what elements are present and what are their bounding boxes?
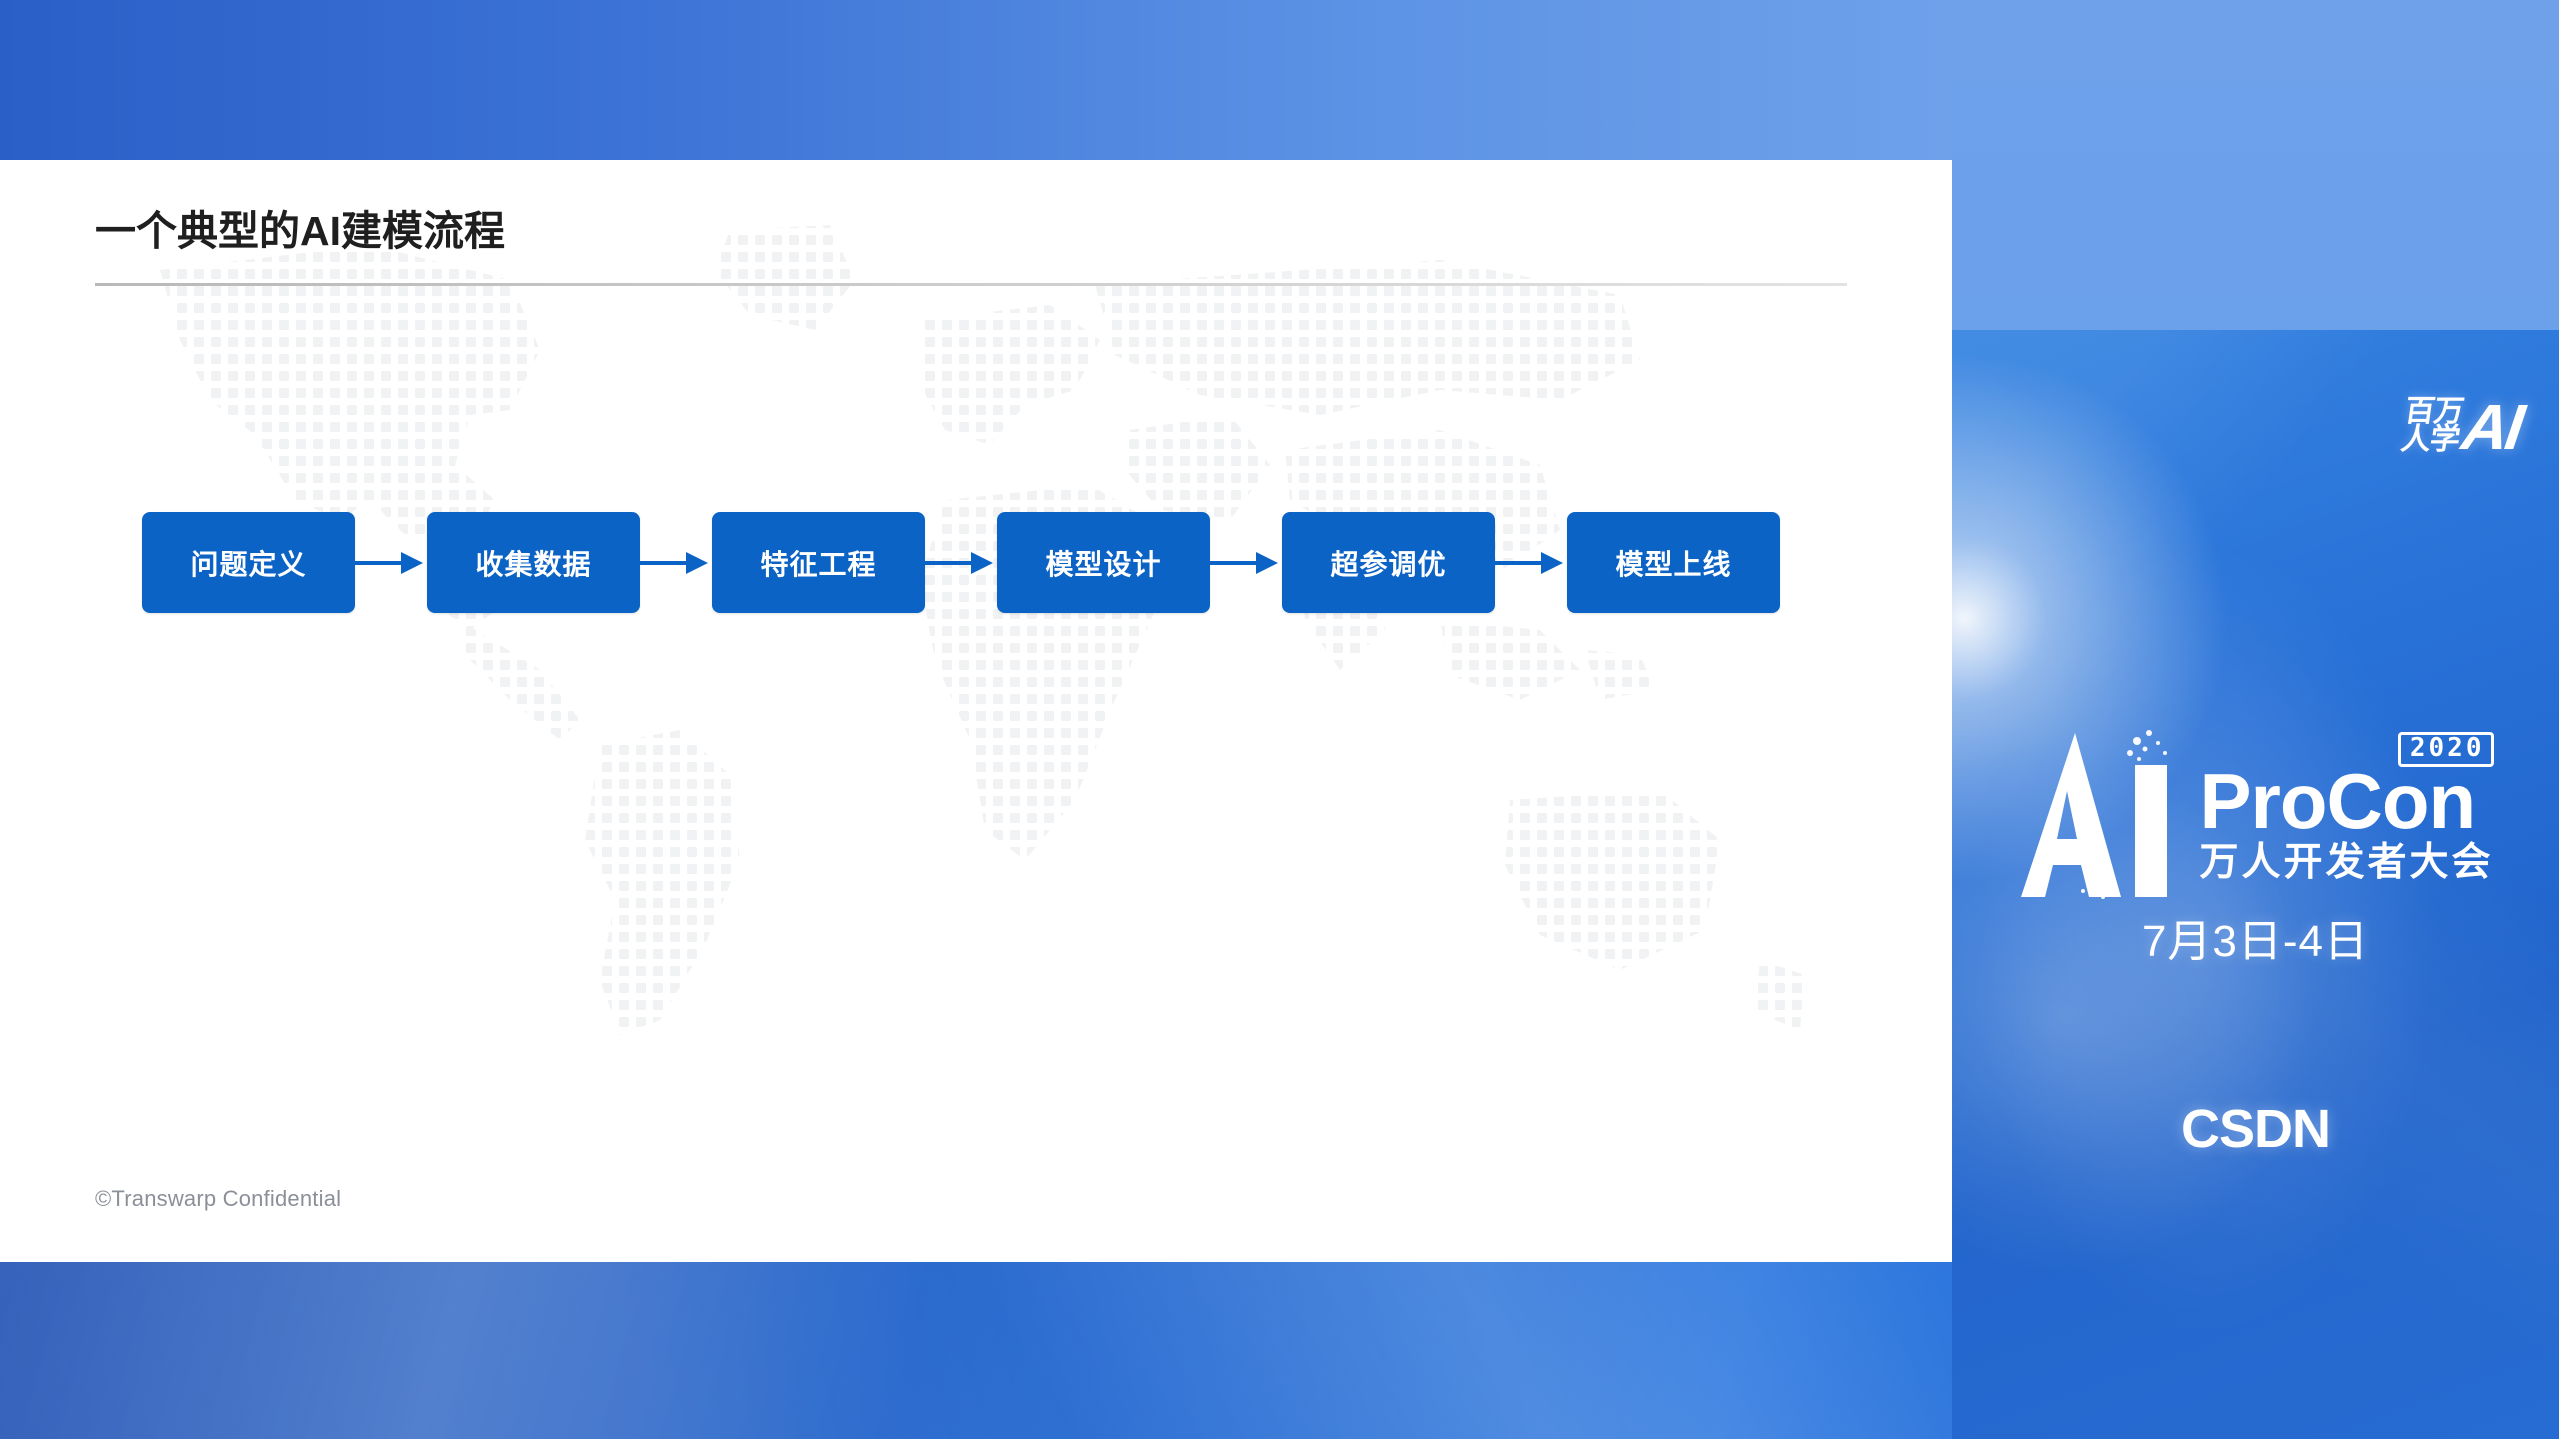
slide-stage: 一个典型的AI建模流程 TRANSWARP 星环科技 问题定义 收集数据 特征工… (0, 0, 2559, 1439)
rail-top-band (1952, 0, 2559, 330)
flow-arrow-icon (640, 552, 712, 574)
flow-step-box[interactable]: 模型设计 (997, 512, 1210, 613)
flow-arrow-icon (1495, 552, 1567, 574)
conference-date: 7月3日-4日 (1952, 905, 2559, 969)
slide-canvas (0, 160, 1952, 1262)
baiwanrenxueai-logo: 百万 人学 AI (2399, 398, 2525, 453)
baiwanrenxueai-chinese: 百万 人学 (2399, 398, 2465, 453)
procon-subtitle: 万人开发者大会 (2199, 843, 2493, 882)
csdn-logo: CSDN (1952, 1098, 2559, 1160)
flow-arrow-icon (1210, 552, 1282, 574)
baiwanrenxueai-ai-text: AI (2459, 401, 2524, 453)
flow-step-box[interactable]: 收集数据 (427, 512, 640, 613)
flow-step-box[interactable]: 超参调优 (1282, 512, 1495, 613)
top-gradient-band (0, 0, 1952, 160)
procon-title: ProCon (2199, 766, 2493, 838)
title-divider (95, 283, 1847, 286)
ai-procon-mark-icon (2017, 725, 2185, 905)
conference-rail: 百万 人学 AI (1952, 0, 2559, 1439)
procon-year-badge: 2020 (2398, 732, 2494, 767)
world-map-watermark (40, 200, 1870, 1120)
flow-arrow-icon (355, 552, 427, 574)
baiwanrenxueai-line-1: 百万 (2403, 398, 2465, 426)
page-title: 一个典型的AI建模流程 (95, 197, 505, 257)
flow-arrow-icon (925, 552, 997, 574)
ai-procon-text-block: 2020 ProCon 万人开发者大会 (2199, 748, 2493, 882)
flow-step-box[interactable]: 特征工程 (712, 512, 925, 613)
flow-step-box[interactable]: 问题定义 (142, 512, 355, 613)
confidential-notice: ©Transwarp Confidential (95, 1186, 341, 1212)
modeling-pipeline-flow: 问题定义 收集数据 特征工程 模型设计 超参调优 模型上线 (142, 512, 1780, 613)
ai-procon-logo: 2020 ProCon 万人开发者大会 (1952, 690, 2559, 940)
flow-step-box[interactable]: 模型上线 (1567, 512, 1780, 613)
baiwanrenxueai-line-2: 人学 (2399, 426, 2461, 454)
